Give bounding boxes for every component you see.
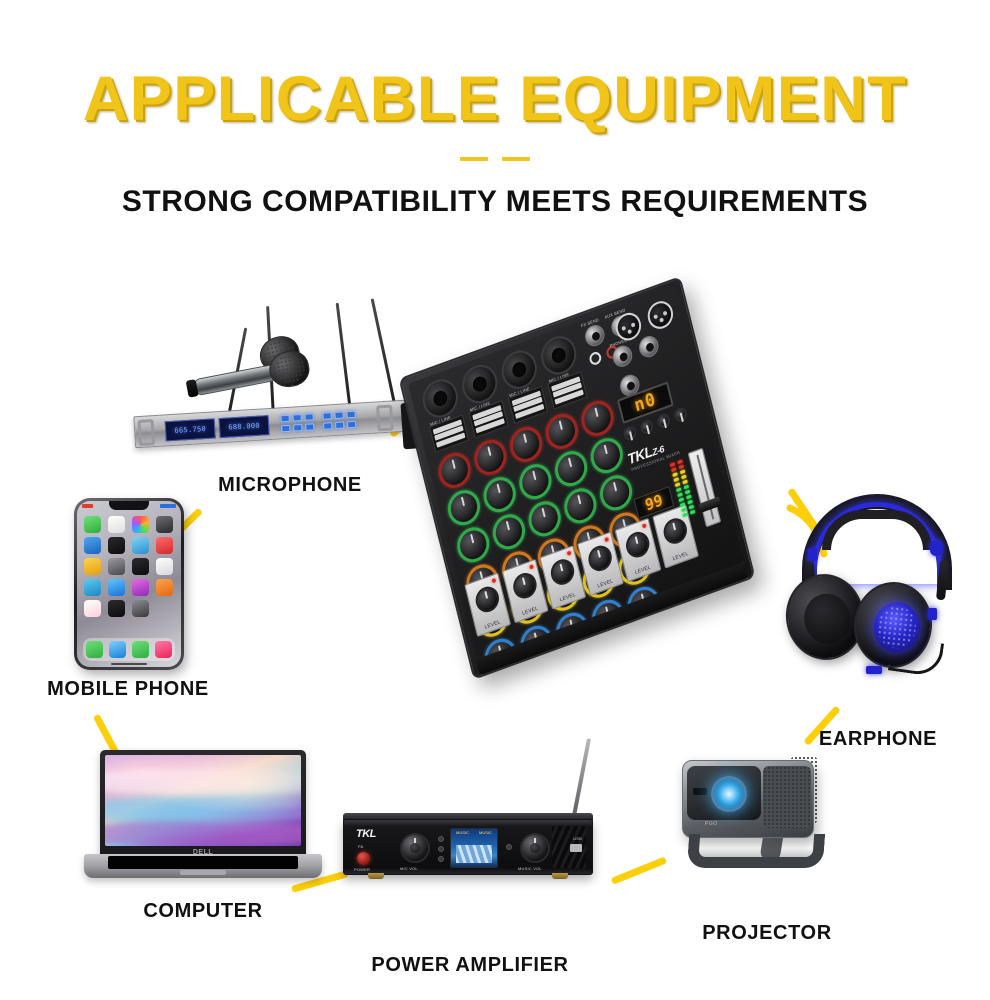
- app-icon-messages[interactable]: [84, 516, 101, 533]
- receiver-button-1[interactable]: [280, 415, 289, 423]
- amplifier-indicator-2[interactable]: [438, 846, 444, 852]
- caption-projector: PROJECTOR: [672, 922, 862, 945]
- player-display-value: n0: [632, 389, 658, 417]
- app-icon-calendar[interactable]: [108, 516, 125, 533]
- device-audio-mixer[interactable]: MIC / LINE MIC / LINE MIC / LINE MIC / L…: [405, 318, 825, 663]
- wallpaper-wave-1: [105, 769, 301, 795]
- device-earphone[interactable]: [778, 490, 978, 720]
- laptop-screen[interactable]: [105, 755, 301, 846]
- level-display-value: 99: [643, 491, 664, 515]
- music-volume-label: MUSIC VOL: [518, 866, 542, 871]
- amplifier-display: MUSIC MUSIC: [450, 828, 498, 868]
- amplifier-foot-left: [368, 873, 384, 879]
- device-projector[interactable]: PGO: [672, 748, 852, 898]
- dock-icon-messages[interactable]: [132, 641, 149, 658]
- app-icon-notes[interactable]: [84, 558, 101, 575]
- peak-led-1: [492, 578, 497, 583]
- phone-notch: [109, 501, 149, 510]
- projector-body: PGO: [682, 760, 814, 838]
- caption-computer: COMPUTER: [78, 900, 328, 923]
- device-power-amplifier[interactable]: TKL PA POWER MIC VOL MUSIC MUSIC MUSIC V…: [335, 775, 605, 905]
- headband-accent-left: [808, 548, 817, 561]
- app-icon-books[interactable]: [156, 579, 173, 596]
- amplifier-front-panel[interactable]: TKL PA POWER MIC VOL MUSIC MUSIC MUSIC V…: [343, 819, 593, 875]
- knob-gain-1[interactable]: [435, 448, 474, 492]
- player-button-prev[interactable]: [622, 424, 637, 442]
- peak-led-2: [529, 564, 534, 569]
- app-icon-wallet[interactable]: [108, 600, 125, 617]
- amplifier-brand: TKL: [356, 828, 376, 840]
- rca-input-left[interactable]: [588, 350, 602, 366]
- usb-label: USB: [573, 836, 582, 841]
- projector-front-face: [687, 766, 761, 820]
- mic-volume-knob[interactable]: [400, 833, 430, 863]
- knob-mid-2[interactable]: [489, 510, 528, 554]
- receiver-frequency-a: 665.750: [174, 425, 206, 435]
- receiver-button-4[interactable]: [281, 425, 290, 433]
- wallpaper-wave-3: [105, 821, 301, 846]
- page-header: APPLICABLE EQUIPMENT STRONG COMPATIBILIT…: [0, 0, 990, 219]
- page-title: APPLICABLE EQUIPMENT: [0, 68, 990, 131]
- knob-gain-4[interactable]: [542, 409, 581, 453]
- xlr-combo-input-4[interactable]: [537, 331, 580, 379]
- receiver-button-9[interactable]: [346, 411, 355, 419]
- laptop-trackpad[interactable]: [180, 870, 226, 875]
- receiver-frequency-b: 688.000: [228, 422, 260, 432]
- xlr-combo-input-2[interactable]: [458, 360, 501, 408]
- divider-dash-left: [460, 157, 488, 161]
- app-icon-reminders[interactable]: [156, 558, 173, 575]
- receiver-button-6[interactable]: [305, 423, 314, 431]
- app-icon-camera[interactable]: [156, 516, 173, 533]
- dock-icon-safari[interactable]: [109, 641, 126, 658]
- amplifier-display-label-right: MUSIC: [479, 830, 492, 835]
- receiver-button-5[interactable]: [293, 424, 302, 432]
- music-volume-knob[interactable]: [520, 833, 550, 863]
- player-button-play[interactable]: [656, 412, 671, 430]
- amplifier-indicator-3[interactable]: [438, 856, 444, 862]
- app-icon-mail[interactable]: [84, 579, 101, 596]
- app-icon-settings-gear[interactable]: [132, 600, 149, 617]
- projector-logo: PGO: [705, 821, 718, 827]
- amplifier-brand-sub: PA: [358, 844, 363, 849]
- caption-power-amplifier: POWER AMPLIFIER: [340, 954, 600, 977]
- projector-lens: [711, 776, 747, 812]
- rack-ear-right: [376, 405, 394, 432]
- dock-icon-phone[interactable]: [86, 641, 103, 658]
- device-mobile-phone[interactable]: [74, 498, 184, 670]
- laptop-keyboard[interactable]: [108, 856, 298, 869]
- headset-boom-microphone: [888, 637, 944, 678]
- knob-high-3[interactable]: [516, 459, 555, 503]
- projector-ir-sensor: [693, 788, 707, 795]
- level-knob-2[interactable]: [511, 570, 540, 602]
- player-button-mode[interactable]: [639, 418, 654, 436]
- phone-screen[interactable]: [77, 501, 181, 667]
- app-icon-photos[interactable]: [132, 516, 149, 533]
- amplifier-display-label-left: MUSIC: [456, 830, 469, 835]
- peak-led-3: [567, 551, 572, 556]
- usb-port[interactable]: [570, 844, 582, 852]
- level-knob-4[interactable]: [586, 542, 615, 574]
- dock-icon-music[interactable]: [155, 641, 172, 658]
- wireless-receiver-rack[interactable]: 665.750 688.000: [133, 400, 406, 449]
- app-icon-weather[interactable]: [84, 537, 101, 554]
- receiver-button-12[interactable]: [347, 421, 356, 429]
- headband-accent-right: [930, 540, 943, 556]
- device-computer[interactable]: DELL: [78, 750, 328, 890]
- amplifier-foot-right: [552, 873, 568, 879]
- earcup-accent-side: [928, 608, 937, 620]
- title-divider: [460, 157, 530, 161]
- page-subtitle: STRONG COMPATIBILITY MEETS REQUIREMENTS: [0, 185, 990, 219]
- knob-gain-2[interactable]: [471, 435, 510, 479]
- player-button-next[interactable]: [673, 406, 688, 424]
- peak-led-4: [604, 537, 609, 542]
- rack-ear-left: [138, 419, 156, 446]
- connector-amplifier-to-projector: [611, 857, 667, 885]
- receiver-display-channel-a: 665.750: [165, 418, 216, 441]
- app-icon-files[interactable]: [132, 537, 149, 554]
- projector-stand-base: [687, 834, 825, 868]
- amplifier-display-labels: MUSIC MUSIC: [451, 830, 497, 835]
- earcup-accent-bottom: [866, 666, 882, 674]
- mixer-chassis: MIC / LINE MIC / LINE MIC / LINE MIC / L…: [398, 276, 755, 680]
- xlr-combo-input-3[interactable]: [498, 345, 541, 393]
- mixer-control-surface[interactable]: MIC / LINE MIC / LINE MIC / LINE MIC / L…: [408, 287, 744, 659]
- receiver-button-8[interactable]: [334, 411, 343, 419]
- knob-high-4[interactable]: [551, 446, 590, 490]
- phone-app-grid[interactable]: [84, 516, 174, 617]
- receiver-button-10[interactable]: [323, 422, 332, 430]
- device-microphone[interactable]: 665.750 688.000: [128, 300, 448, 480]
- power-button[interactable]: [357, 852, 370, 865]
- master-fader[interactable]: [688, 448, 722, 528]
- level-display: 99: [634, 486, 675, 519]
- mic-volume-label: MIC VOL: [400, 866, 418, 871]
- app-icon-settings[interactable]: [108, 558, 125, 575]
- wallpaper-wave-2: [105, 797, 301, 823]
- knob-mid-3[interactable]: [525, 497, 564, 541]
- receiver-button-7[interactable]: [322, 412, 331, 420]
- laptop-base: [84, 854, 322, 878]
- knob-gain-3[interactable]: [506, 422, 545, 466]
- app-icon-itunes[interactable]: [132, 579, 149, 596]
- app-icon-news[interactable]: [156, 537, 173, 554]
- output-jack-1[interactable]: [637, 333, 661, 360]
- level-knob-1[interactable]: [473, 583, 502, 615]
- knob-high-1[interactable]: [444, 485, 483, 529]
- knob-mid-4[interactable]: [561, 484, 600, 528]
- amplifier-display-graphic: [456, 845, 492, 863]
- amplifier-indicator-1[interactable]: [438, 836, 444, 842]
- phone-dock[interactable]: [83, 638, 175, 661]
- projector-speaker-mesh: [763, 766, 811, 828]
- app-icon-stocks[interactable]: [132, 558, 149, 575]
- app-icon-health[interactable]: [84, 600, 101, 617]
- carrier-indicator: [82, 504, 93, 508]
- knob-high-2[interactable]: [480, 472, 519, 516]
- battery-indicator: [160, 504, 176, 508]
- laptop-lid: DELL: [100, 750, 306, 858]
- divider-dash-right: [502, 157, 530, 161]
- app-icon-appstore[interactable]: [108, 579, 125, 596]
- caption-microphone: MICROPHONE: [150, 474, 430, 497]
- receiver-display-channel-b: 688.000: [219, 415, 270, 438]
- caption-mobile-phone: MOBILE PHONE: [28, 678, 228, 701]
- xlr-combo-input-1[interactable]: [419, 374, 462, 422]
- app-icon-placeholder: [156, 600, 173, 617]
- amplifier-antenna: [571, 738, 591, 821]
- receiver-button-2[interactable]: [292, 414, 301, 422]
- knob-mid-1[interactable]: [454, 523, 493, 567]
- app-icon-clock[interactable]: [108, 537, 125, 554]
- level-knob-3[interactable]: [548, 556, 577, 588]
- phone-frame: [74, 498, 184, 670]
- phone-home-indicator: [111, 663, 147, 665]
- receiver-button-11[interactable]: [335, 421, 344, 429]
- amplifier-menu-button[interactable]: [506, 844, 512, 850]
- receiver-button-3[interactable]: [304, 413, 313, 421]
- power-button-label: POWER: [354, 867, 370, 872]
